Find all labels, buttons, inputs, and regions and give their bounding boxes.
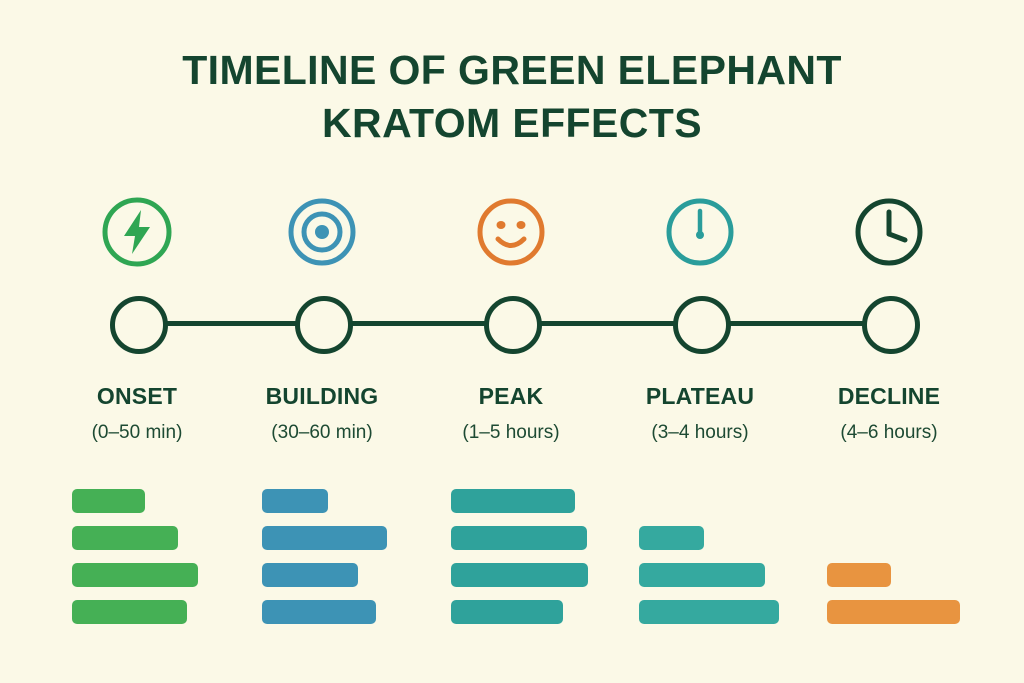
stage-time-plateau: (3–4 hours) [605,422,795,444]
bar [72,600,187,624]
bar [72,563,198,587]
bar [451,563,588,587]
stage-time-onset: (0–50 min) [42,422,232,444]
bar [827,563,891,587]
infographic-canvas: TIMELINE OF GREEN ELEPHANT KRATOM EFFECT… [0,0,1024,683]
bar [72,526,178,550]
timeline-node-decline[interactable] [862,296,920,354]
stage-label-plateau: PLATEAU [605,383,795,410]
timeline-node-peak[interactable] [484,296,542,354]
title-line-2: KRATOM EFFECTS [0,97,1024,150]
bar [262,563,358,587]
bar [451,526,587,550]
stage-label-peak: PEAK [416,383,606,410]
stage-label-onset: ONSET [42,383,232,410]
smiley-face-icon [473,194,549,270]
bar [451,600,563,624]
timeline-node-onset[interactable] [110,296,168,354]
page-title: TIMELINE OF GREEN ELEPHANT KRATOM EFFECT… [0,44,1024,150]
clock-twelve-icon [662,194,738,270]
stage-time-decline: (4–6 hours) [794,422,984,444]
bullseye-target-icon [284,194,360,270]
stage-time-building: (30–60 min) [227,422,417,444]
bar [262,526,387,550]
bar [827,600,960,624]
timeline-node-plateau[interactable] [673,296,731,354]
title-line-1: TIMELINE OF GREEN ELEPHANT [0,44,1024,97]
stage-label-decline: DECLINE [794,383,984,410]
timeline-node-building[interactable] [295,296,353,354]
clock-two-icon [851,194,927,270]
stage-time-peak: (1–5 hours) [416,422,606,444]
bar [262,489,328,513]
bar [639,600,779,624]
bar [639,563,765,587]
bar [639,526,704,550]
bar [262,600,376,624]
bar [451,489,575,513]
stage-label-building: BUILDING [227,383,417,410]
lightning-bolt-icon [99,194,175,270]
bar [72,489,145,513]
